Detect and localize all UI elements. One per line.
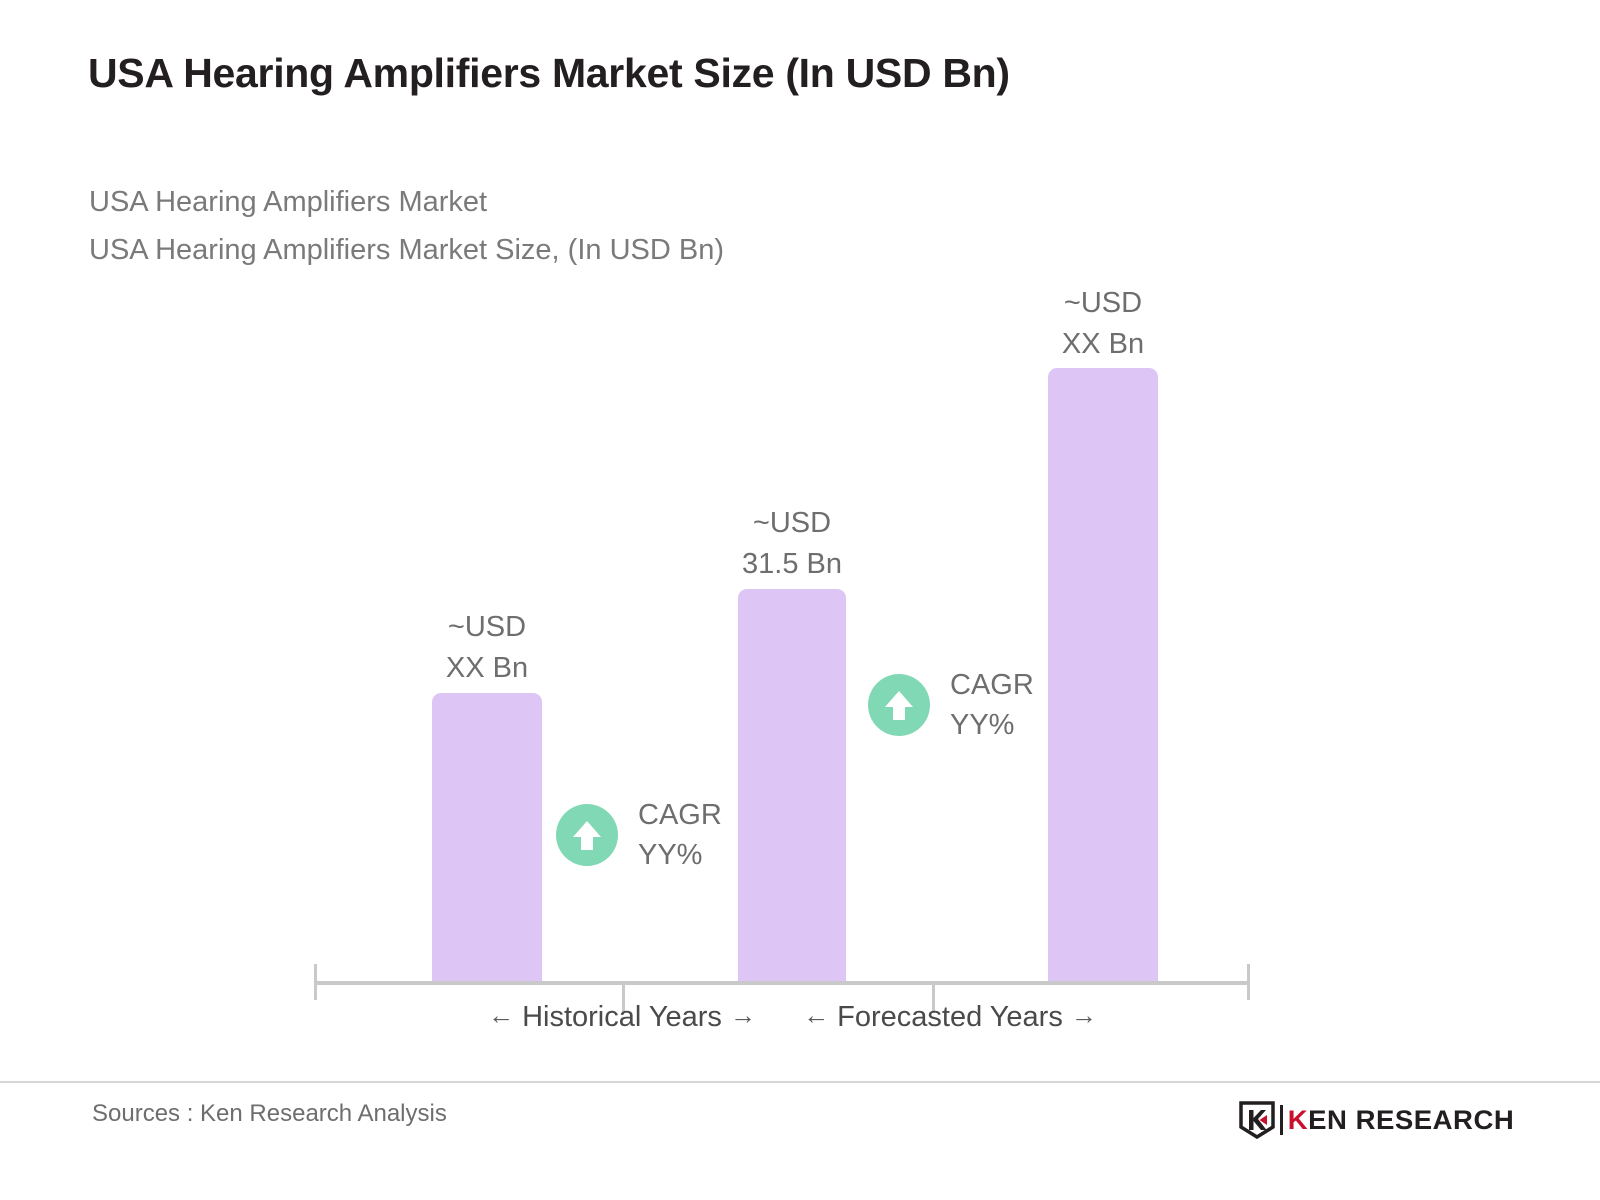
bar-value-label-base-line-2: 31.5 Bn	[702, 544, 882, 585]
arrow-up-icon	[868, 674, 930, 736]
axis-range-text-forecasted: Forecasted Years	[837, 1001, 1063, 1033]
axis-range-text-historical: Historical Years	[522, 1001, 722, 1033]
bar-chart-plot-area: ~USD XX Bn ~USD 31.5 Bn ~USD XX Bn CAGR …	[0, 0, 1600, 1060]
cagr-label-line-2: YY%	[950, 705, 1034, 745]
bar-value-label-base: ~USD 31.5 Bn	[702, 503, 882, 585]
cagr-annotation-historical-text: CAGR YY%	[638, 795, 722, 875]
bar-historical[interactable]	[432, 693, 542, 983]
wordmark-k: K	[1288, 1105, 1308, 1135]
arrow-right-icon: →	[1071, 1000, 1097, 1030]
bar-forecast[interactable]	[1048, 368, 1158, 983]
cagr-annotation-forecast-text: CAGR YY%	[950, 665, 1034, 745]
axis-range-label-forecasted: ← Forecasted Years →	[706, 1000, 1194, 1034]
axis-endcap-left	[314, 964, 317, 1000]
bar-base[interactable]	[738, 589, 846, 983]
ken-research-wordmark: KEN RESEARCH	[1288, 1107, 1514, 1134]
cagr-annotation-historical[interactable]: CAGR YY%	[556, 795, 722, 875]
cagr-label-line-1: CAGR	[638, 795, 722, 835]
bar-value-label-forecast-line-2: XX Bn	[1013, 324, 1193, 365]
bar-value-label-base-line-1: ~USD	[702, 503, 882, 544]
source-note: Sources : Ken Research Analysis	[92, 1100, 447, 1128]
wordmark-rest: EN RESEARCH	[1308, 1105, 1514, 1135]
arrow-left-icon: ←	[488, 1000, 514, 1030]
cagr-label-line-2: YY%	[638, 835, 722, 875]
footer-divider	[0, 1081, 1600, 1083]
ken-research-k-mark-icon	[1239, 1101, 1275, 1139]
bar-value-label-historical-line-2: XX Bn	[397, 648, 577, 689]
ken-research-logo: KEN RESEARCH	[1239, 1100, 1512, 1140]
x-axis-line	[314, 981, 1250, 985]
axis-endcap-right	[1247, 964, 1250, 1000]
cagr-label-line-1: CAGR	[950, 665, 1034, 705]
cagr-annotation-forecast[interactable]: CAGR YY%	[868, 665, 1034, 745]
arrow-up-icon	[556, 804, 618, 866]
bar-value-label-forecast-line-1: ~USD	[1013, 283, 1193, 324]
bar-value-label-historical-line-1: ~USD	[397, 607, 577, 648]
bar-value-label-historical: ~USD XX Bn	[397, 607, 577, 689]
arrow-left-icon: ←	[803, 1000, 829, 1030]
logo-divider	[1280, 1105, 1283, 1135]
bar-value-label-forecast: ~USD XX Bn	[1013, 283, 1193, 365]
